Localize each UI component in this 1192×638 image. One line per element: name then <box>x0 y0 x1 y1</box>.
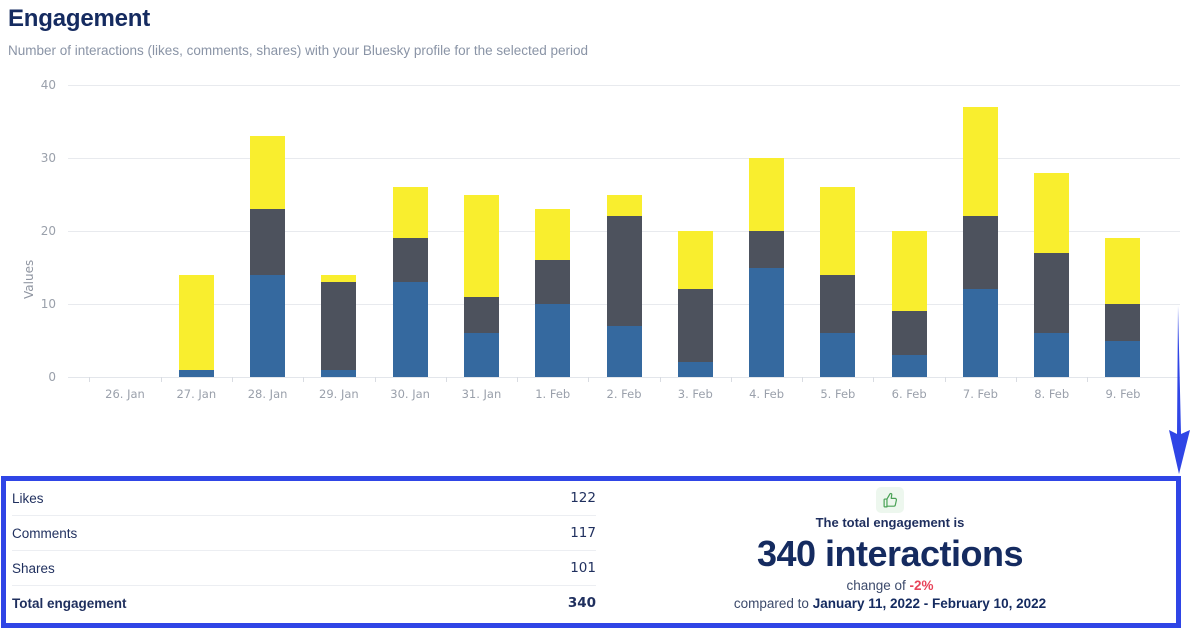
summary-row: Likes122 <box>12 481 596 516</box>
x-axis-tick-label: 28. Jan <box>228 387 308 401</box>
bar-segment-likes[interactable] <box>464 195 499 297</box>
bar-segment-comments[interactable] <box>892 311 927 355</box>
change-prefix: change of <box>846 578 905 593</box>
x-axis-tick <box>517 377 518 382</box>
summary-row-value: 340 <box>568 595 596 611</box>
y-axis-tick-label: 0 <box>0 370 56 384</box>
engagement-breakdown-table: Likes122Comments117Shares101Total engage… <box>6 481 604 623</box>
bar-segment-likes[interactable] <box>963 107 998 217</box>
bar-stack[interactable] <box>678 231 713 377</box>
x-axis-tick-label: 8. Feb <box>1012 387 1092 401</box>
bar-stack[interactable] <box>1034 173 1069 377</box>
header: Engagement Number of interactions (likes… <box>0 0 1192 59</box>
summary-total-row: Total engagement340 <box>12 586 596 620</box>
bar-segment-comments[interactable] <box>1034 253 1069 333</box>
x-axis-tick <box>89 377 90 382</box>
x-axis-tick <box>660 377 661 382</box>
bars-layer <box>68 85 1180 377</box>
bar-segment-shares[interactable] <box>179 370 214 377</box>
engagement-chart: Values 010203040 26. Jan27. Jan28. Jan29… <box>0 67 1192 435</box>
y-axis-tick-label: 10 <box>0 297 56 311</box>
x-axis-tick <box>1016 377 1017 382</box>
bar-segment-shares[interactable] <box>892 355 927 377</box>
total-engagement-callout: The total engagement is 340 interactions… <box>604 481 1176 623</box>
summary-row-label: Likes <box>12 491 44 506</box>
bar-stack[interactable] <box>535 209 570 377</box>
change-value: -2% <box>910 578 934 593</box>
bar-stack[interactable] <box>393 187 428 377</box>
bar-segment-likes[interactable] <box>321 275 356 282</box>
summary-row: Comments117 <box>12 516 596 551</box>
bar-segment-comments[interactable] <box>820 275 855 333</box>
x-axis-tick-label: 4. Feb <box>727 387 807 401</box>
summary-row-value: 101 <box>570 560 596 576</box>
x-axis-tick <box>873 377 874 382</box>
x-axis-tick <box>161 377 162 382</box>
x-axis-tick <box>446 377 447 382</box>
bar-stack[interactable] <box>250 136 285 377</box>
x-axis-tick-label: 5. Feb <box>798 387 878 401</box>
bar-segment-shares[interactable] <box>607 326 642 377</box>
bar-stack[interactable] <box>820 187 855 377</box>
x-axis-tick <box>375 377 376 382</box>
bar-stack[interactable] <box>179 275 214 377</box>
bar-stack[interactable] <box>1105 238 1140 377</box>
compare-line: compared to January 11, 2022 - February … <box>734 596 1046 611</box>
bar-stack[interactable] <box>607 195 642 377</box>
x-axis-tick <box>588 377 589 382</box>
bar-segment-comments[interactable] <box>321 282 356 370</box>
chart-plot-area: 010203040 26. Jan27. Jan28. Jan29. Jan30… <box>68 85 1180 455</box>
bar-segment-likes[interactable] <box>892 231 927 311</box>
x-axis-tick <box>1087 377 1088 382</box>
bar-segment-shares[interactable] <box>250 275 285 377</box>
bar-segment-shares[interactable] <box>678 362 713 377</box>
bar-segment-likes[interactable] <box>1034 173 1069 253</box>
bar-stack[interactable] <box>963 107 998 377</box>
x-axis-tick <box>945 377 946 382</box>
thumbs-up-icon <box>876 487 904 513</box>
summary-panel: Likes122Comments117Shares101Total engage… <box>1 476 1181 628</box>
bar-stack[interactable] <box>321 275 356 377</box>
bar-segment-comments[interactable] <box>749 231 784 268</box>
compare-range: January 11, 2022 - February 10, 2022 <box>813 596 1046 611</box>
bar-segment-shares[interactable] <box>321 370 356 377</box>
bar-segment-likes[interactable] <box>749 158 784 231</box>
bar-segment-shares[interactable] <box>393 282 428 377</box>
bar-segment-likes[interactable] <box>179 275 214 370</box>
bar-stack[interactable] <box>464 195 499 377</box>
bar-segment-shares[interactable] <box>535 304 570 377</box>
x-axis-line <box>68 377 1180 378</box>
y-axis-tick-label: 20 <box>0 224 56 238</box>
x-axis-tick <box>232 377 233 382</box>
x-axis-tick-label: 2. Feb <box>584 387 664 401</box>
bar-segment-shares[interactable] <box>464 333 499 377</box>
bar-segment-likes[interactable] <box>1105 238 1140 304</box>
page-title: Engagement <box>8 4 1192 34</box>
bar-segment-comments[interactable] <box>250 209 285 275</box>
bar-segment-shares[interactable] <box>1105 341 1140 378</box>
x-axis-tick <box>303 377 304 382</box>
x-axis-tick-label: 3. Feb <box>655 387 735 401</box>
x-axis-tick-label: 9. Feb <box>1083 387 1163 401</box>
x-axis-tick-label: 7. Feb <box>940 387 1020 401</box>
x-axis-tick-label: 29. Jan <box>299 387 379 401</box>
x-axis-tick-label: 1. Feb <box>513 387 593 401</box>
bar-segment-shares[interactable] <box>963 289 998 377</box>
x-axis-tick-label: 30. Jan <box>370 387 450 401</box>
compare-prefix: compared to <box>734 596 809 611</box>
y-axis-tick-label: 30 <box>0 151 56 165</box>
summary-row: Shares101 <box>12 551 596 586</box>
summary-row-value: 122 <box>570 490 596 506</box>
y-axis-title: Values <box>22 260 36 299</box>
bar-stack[interactable] <box>749 158 784 377</box>
bar-segment-comments[interactable] <box>963 216 998 289</box>
x-axis-tick-label: 31. Jan <box>441 387 521 401</box>
bar-segment-comments[interactable] <box>678 289 713 362</box>
bar-segment-comments[interactable] <box>393 238 428 282</box>
x-axis-tick-label: 26. Jan <box>85 387 165 401</box>
change-line: change of -2% <box>846 578 933 593</box>
bar-segment-comments[interactable] <box>1105 304 1140 341</box>
x-axis-tick-label: 6. Feb <box>869 387 949 401</box>
x-axis-tick-label: 27. Jan <box>156 387 236 401</box>
bar-stack[interactable] <box>892 231 927 377</box>
bar-segment-comments[interactable] <box>464 297 499 334</box>
bar-segment-comments[interactable] <box>607 216 642 326</box>
bar-segment-likes[interactable] <box>393 187 428 238</box>
summary-row-value: 117 <box>570 525 596 541</box>
bar-segment-shares[interactable] <box>820 333 855 377</box>
total-engagement-lead: The total engagement is <box>816 515 965 530</box>
bar-segment-likes[interactable] <box>678 231 713 289</box>
bar-segment-likes[interactable] <box>535 209 570 260</box>
bar-segment-likes[interactable] <box>820 187 855 275</box>
bar-segment-shares[interactable] <box>1034 333 1069 377</box>
bar-segment-shares[interactable] <box>749 268 784 378</box>
page-subtitle: Number of interactions (likes, comments,… <box>8 43 1192 59</box>
x-axis-tick <box>731 377 732 382</box>
y-axis-tick-label: 40 <box>0 78 56 92</box>
total-engagement-headline: 340 interactions <box>757 532 1023 576</box>
bar-segment-comments[interactable] <box>535 260 570 304</box>
summary-row-label: Total engagement <box>12 596 127 611</box>
bar-segment-likes[interactable] <box>607 195 642 217</box>
summary-row-label: Shares <box>12 561 55 576</box>
bar-segment-likes[interactable] <box>250 136 285 209</box>
x-axis-tick <box>802 377 803 382</box>
summary-row-label: Comments <box>12 526 77 541</box>
